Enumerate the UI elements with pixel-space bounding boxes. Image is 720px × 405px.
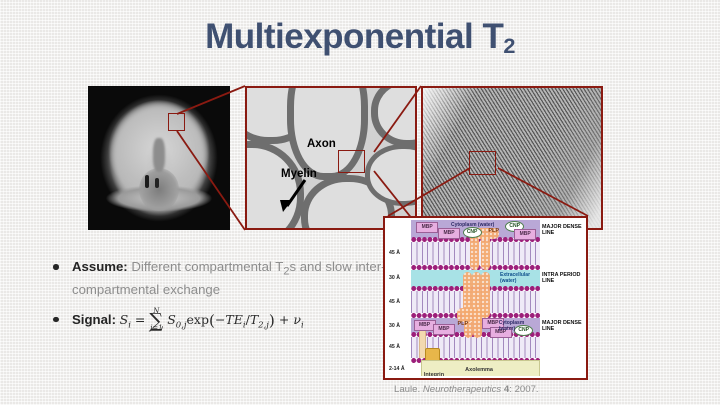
mbp-label: MBP	[514, 229, 536, 240]
em-high-panel	[421, 86, 603, 230]
mri-brain-image	[88, 86, 230, 230]
signal-equation: Si = ∑Nj=1 S0,jexp(−TEi/T2,j) + νi	[120, 312, 304, 327]
bullet-assume: Assume: Different compartmental T2s and …	[46, 258, 386, 298]
page-title: Multiexponential T2	[0, 17, 720, 59]
em-mid-panel: Axon Myelin	[245, 86, 417, 230]
cytoplasm-water-label: Cytoplasm (water)	[499, 320, 540, 332]
mbp-label: MBP	[416, 222, 438, 233]
dimension-label: 45 Å	[389, 250, 400, 256]
bullet-signal: Signal: Si = ∑Nj=1 S0,jexp(−TEi/T2,j) + …	[46, 311, 386, 335]
mri-dark-voxel-a	[145, 175, 149, 188]
integrin-label: Integrin	[424, 372, 444, 376]
slide-root: Multiexponential T2 Axon Myelin	[0, 0, 720, 405]
dimension-label: 30 Å	[389, 275, 400, 281]
mbp-label: MBP	[438, 228, 460, 239]
em-high-shading	[423, 88, 601, 228]
mri-dark-voxel-b	[155, 178, 159, 188]
summation-symbol: ∑Nj=1	[149, 314, 163, 328]
dimension-label: 45 Å	[389, 344, 400, 350]
bullet-list: Assume: Different compartmental T2s and …	[46, 258, 386, 347]
mbp-label: MBP	[433, 324, 455, 335]
bullet-assume-lead: Assume:	[72, 259, 128, 274]
page-title-text: Multiexponential T	[205, 17, 503, 56]
page-title-subscript: 2	[503, 33, 515, 58]
cnp-label: CNP	[463, 227, 482, 238]
citation-year: : 2007.	[509, 384, 538, 395]
bullet-signal-lead: Signal:	[72, 312, 116, 327]
major-dense-line-label: MAJOR DENSE LINE	[542, 320, 582, 332]
myelin-membrane-diagram: Integrin Axolemma MBP MBP CNP CNP MBP PL…	[383, 216, 588, 380]
axolemma-label: Axolemma	[465, 367, 493, 373]
mri-brain-panel	[88, 86, 230, 230]
em-high-roi-box	[469, 151, 496, 175]
mri-midline-structure	[153, 138, 164, 173]
myelin-bilayer-stack: Integrin Axolemma MBP MBP CNP CNP MBP PL…	[411, 220, 540, 376]
citation: Laule. Neurotherapeutics 4: 2007.	[394, 384, 539, 395]
plp-label: PLP	[457, 321, 468, 327]
plp-label: PLP	[488, 228, 499, 234]
cytoplasm-water-label: Cytoplasm (water)	[451, 222, 494, 228]
mri-roi-box	[168, 113, 185, 130]
major-dense-line-label: MAJOR DENSE LINE	[542, 224, 582, 236]
extracellular-water-label: Extracellular (water)	[500, 273, 534, 284]
intra-period-line-label: INTRA PERIOD LINE	[542, 272, 582, 284]
plp-protein	[481, 234, 490, 270]
citation-author: Laule.	[394, 384, 420, 395]
plp-protein	[470, 234, 479, 270]
citation-journal: Neurotherapeutics	[423, 384, 501, 395]
myelin-diagram-canvas: Integrin Axolemma MBP MBP CNP CNP MBP PL…	[387, 220, 584, 376]
dimension-label: 2-14 Å	[389, 366, 405, 372]
myelin-arrow-icon	[247, 88, 417, 230]
dimension-label: 45 Å	[389, 299, 400, 305]
dimension-label: 30 Å	[389, 323, 400, 329]
